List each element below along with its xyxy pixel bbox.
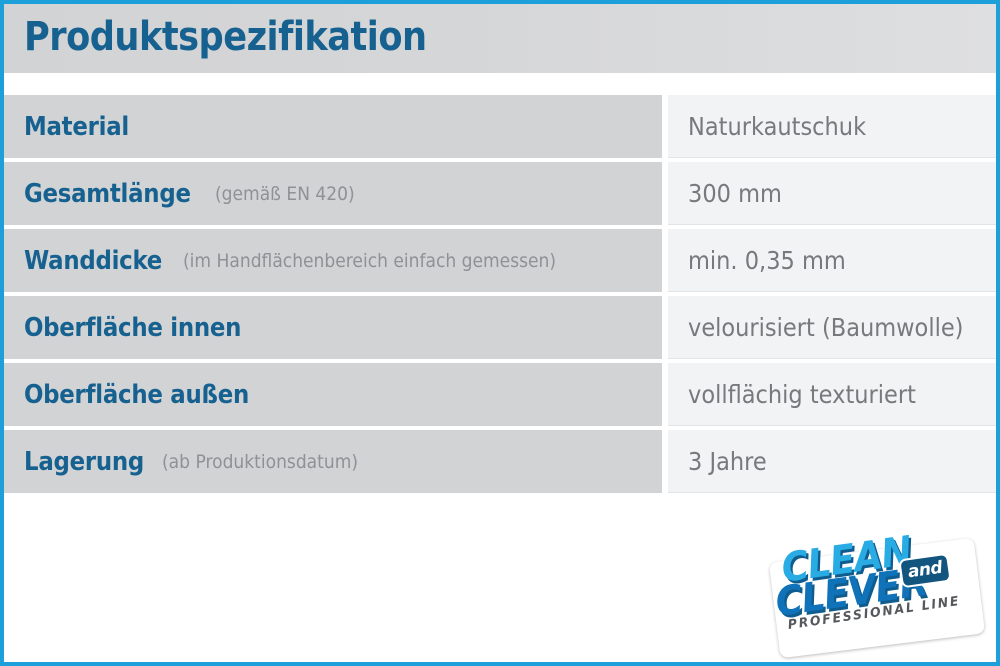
row-label-note: (ab Produktionsdatum)	[162, 451, 358, 473]
row-value-cell: velourisiert (Baumwolle)	[668, 296, 996, 359]
row-label-text: Material	[24, 112, 129, 142]
row-label-cell: Oberfläche außen	[4, 363, 662, 426]
row-value-cell: Naturkautschuk	[668, 95, 996, 158]
page-title: Produktspezifikation	[24, 12, 427, 62]
row-label-cell: Material	[4, 95, 662, 158]
table-row: Lagerung(ab Produktionsdatum)3 Jahre	[4, 430, 996, 493]
table-row: Wanddicke(im Handflächenbereich einfach …	[4, 229, 996, 292]
row-label-cell: Gesamtlänge(gemäß EN 420)	[4, 162, 662, 225]
row-label-text: Wanddicke	[24, 246, 162, 276]
table-row: MaterialNaturkautschuk	[4, 95, 996, 158]
row-value-text: 300 mm	[688, 179, 782, 208]
specification-table: MaterialNaturkautschukGesamtlänge(gemäß …	[4, 95, 996, 497]
table-row: Oberfläche außenvollflächig texturiert	[4, 363, 996, 426]
row-value-text: min. 0,35 mm	[688, 246, 846, 275]
row-label-note: (im Handflächenbereich einfach gemessen)	[183, 250, 556, 272]
row-value-text: velourisiert (Baumwolle)	[688, 313, 963, 342]
row-label-text: Oberfläche außen	[24, 380, 249, 410]
row-value-text: 3 Jahre	[688, 447, 767, 476]
header-band: Produktspezifikation	[4, 4, 996, 73]
table-row: Oberfläche innenvelourisiert (Baumwolle)	[4, 296, 996, 359]
row-value-text: Naturkautschuk	[688, 112, 866, 141]
row-label-text: Oberfläche innen	[24, 313, 241, 343]
row-label-text: Lagerung	[24, 447, 144, 477]
table-row: Gesamtlänge(gemäß EN 420)300 mm	[4, 162, 996, 225]
row-label-cell: Oberfläche innen	[4, 296, 662, 359]
product-specification-card: Produktspezifikation MaterialNaturkautsc…	[0, 0, 1000, 666]
row-label-text: Gesamtlänge	[24, 179, 191, 209]
brand-logo: CLEAN and CLEVER PROFESSIONAL LINE	[766, 536, 988, 656]
row-label-cell: Wanddicke(im Handflächenbereich einfach …	[4, 229, 662, 292]
row-value-cell: 3 Jahre	[668, 430, 996, 493]
row-value-cell: vollflächig texturiert	[668, 363, 996, 426]
logo-connector-and: and	[907, 558, 944, 583]
row-value-text: vollflächig texturiert	[688, 380, 916, 409]
row-value-cell: min. 0,35 mm	[668, 229, 996, 292]
row-value-cell: 300 mm	[668, 162, 996, 225]
row-label-cell: Lagerung(ab Produktionsdatum)	[4, 430, 662, 493]
row-label-note: (gemäß EN 420)	[215, 183, 355, 205]
